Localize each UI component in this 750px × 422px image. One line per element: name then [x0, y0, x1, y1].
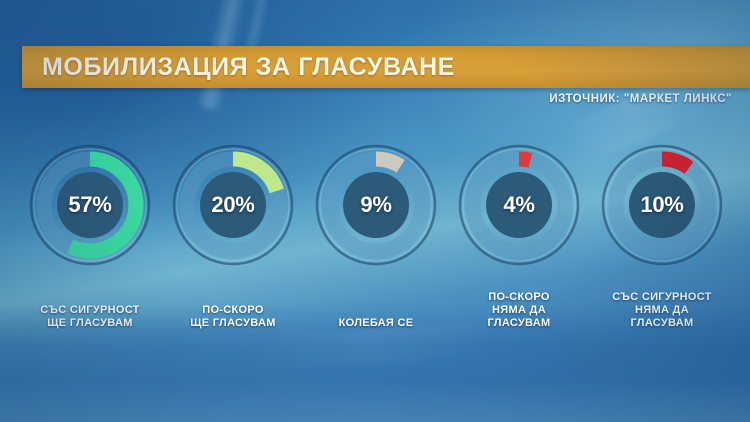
background-bottom-band: [0, 380, 750, 422]
page-title: МОБИЛИЗАЦИЯ ЗА ГЛАСУВАНЕ: [42, 53, 455, 82]
donut-chart: 9%: [312, 141, 440, 269]
donut-category-label: СЪС СИГУРНОСТ НЯМА ДА ГЛАСУВАМ: [598, 291, 726, 330]
donut-chart-row: 57%20%9%4%10%: [26, 140, 726, 270]
source-attribution: ИЗТОЧНИК: "МАРКЕТ ЛИНКС": [549, 93, 732, 105]
donut-value-label: 10%: [640, 192, 683, 218]
donut-value-label: 20%: [211, 192, 254, 218]
donut-value-label: 57%: [68, 192, 111, 218]
donut-chart: 10%: [598, 141, 726, 269]
donut-category-label: ПО-СКОРО ЩЕ ГЛАСУВАМ: [169, 304, 297, 330]
donut-chart: 20%: [169, 141, 297, 269]
donut-label-row: СЪС СИГУРНОСТ ЩЕ ГЛАСУВАМПО-СКОРО ЩЕ ГЛА…: [26, 278, 726, 330]
donut-chart: 57%: [26, 141, 154, 269]
donut-category-label: ПО-СКОРО НЯМА ДА ГЛАСУВАМ: [455, 291, 583, 330]
infographic-screen: МОБИЛИЗАЦИЯ ЗА ГЛАСУВАНЕ ИЗТОЧНИК: "МАРК…: [0, 0, 750, 422]
donut-chart: 4%: [455, 141, 583, 269]
donut-value-label: 4%: [503, 192, 534, 218]
donut-value-label: 9%: [360, 192, 391, 218]
donut-category-label: СЪС СИГУРНОСТ ЩЕ ГЛАСУВАМ: [26, 304, 154, 330]
title-banner: МОБИЛИЗАЦИЯ ЗА ГЛАСУВАНЕ: [22, 46, 750, 88]
donut-category-label: КОЛЕБАЯ СЕ: [312, 317, 440, 330]
